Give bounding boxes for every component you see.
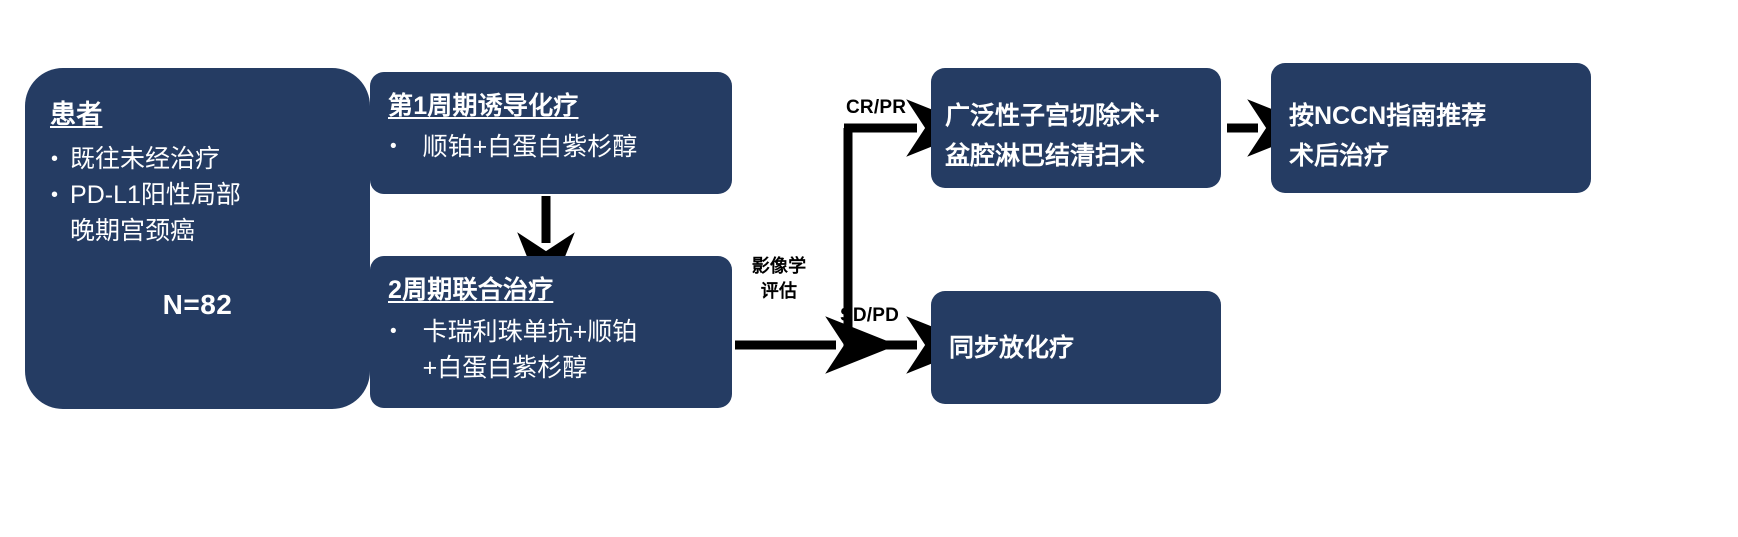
node-patients-bullet-1: • 既往未经治疗 <box>51 141 348 177</box>
edge-label-imaging-assessment: 影像学 评估 <box>746 254 812 304</box>
node-cycle1-induction[interactable]: 第1周期诱导化疗 • 顺铂+白蛋白紫杉醇 <box>370 72 732 194</box>
node-concurrent-chemoradiotherapy[interactable]: 同步放化疗 <box>931 291 1221 404</box>
node-cycle2-combination[interactable]: 2周期联合治疗 • 卡瑞利珠单抗+顺铂 +白蛋白紫杉醇 <box>370 256 732 408</box>
node-cycle1-bullet-1: • 顺铂+白蛋白紫杉醇 <box>386 130 716 164</box>
node-patients-title: 患者 <box>50 94 348 131</box>
node-radical-surgery[interactable]: 广泛性子宫切除术+ 盆腔淋巴结清扫术 <box>931 68 1221 188</box>
node-cycle2-bullet-1-text: 卡瑞利珠单抗+顺铂 +白蛋白紫杉醇 <box>423 314 638 386</box>
bullet-marker-icon: • <box>390 322 397 341</box>
node-radical-surgery-text: 广泛性子宫切除术+ 盆腔淋巴结清扫术 <box>945 96 1207 176</box>
edge-label-sd-pd: SD/PD <box>840 305 899 327</box>
node-patients-bullet-2-text: PD-L1阳性局部 晚期宫颈癌 <box>70 177 241 249</box>
node-patients-sample-size: N=82 <box>47 289 348 321</box>
node-cycle2-bullet-1: • 卡瑞利珠单抗+顺铂 +白蛋白紫杉醇 <box>386 314 716 386</box>
bullet-marker-icon: • <box>51 185 58 205</box>
bullet-marker-icon: • <box>390 137 397 156</box>
node-patients-bullet-1-text: 既往未经治疗 <box>70 141 220 177</box>
node-cycle1-bullet-1-text: 顺铂+白蛋白紫杉醇 <box>423 130 638 164</box>
node-nccn-adjuvant-text: 按NCCN指南推荐 术后治疗 <box>1289 96 1573 176</box>
node-nccn-adjuvant[interactable]: 按NCCN指南推荐 术后治疗 <box>1271 63 1591 193</box>
node-concurrent-chemoradiotherapy-text: 同步放化疗 <box>949 331 1207 365</box>
node-cycle2-title: 2周期联合治疗 <box>388 270 716 306</box>
node-patients[interactable]: 患者 • 既往未经治疗 • PD-L1阳性局部 晚期宫颈癌 N=82 <box>25 68 370 409</box>
bullet-marker-icon: • <box>51 149 58 169</box>
node-patients-bullet-2: • PD-L1阳性局部 晚期宫颈癌 <box>51 177 348 249</box>
edge-label-cr-pr: CR/PR <box>846 97 906 119</box>
node-cycle1-title: 第1周期诱导化疗 <box>388 86 716 122</box>
flowchart-canvas: 影像学 评估 CR/PR SD/PD 患者 • 既往未经治疗 • PD-L1阳性… <box>0 0 1738 537</box>
